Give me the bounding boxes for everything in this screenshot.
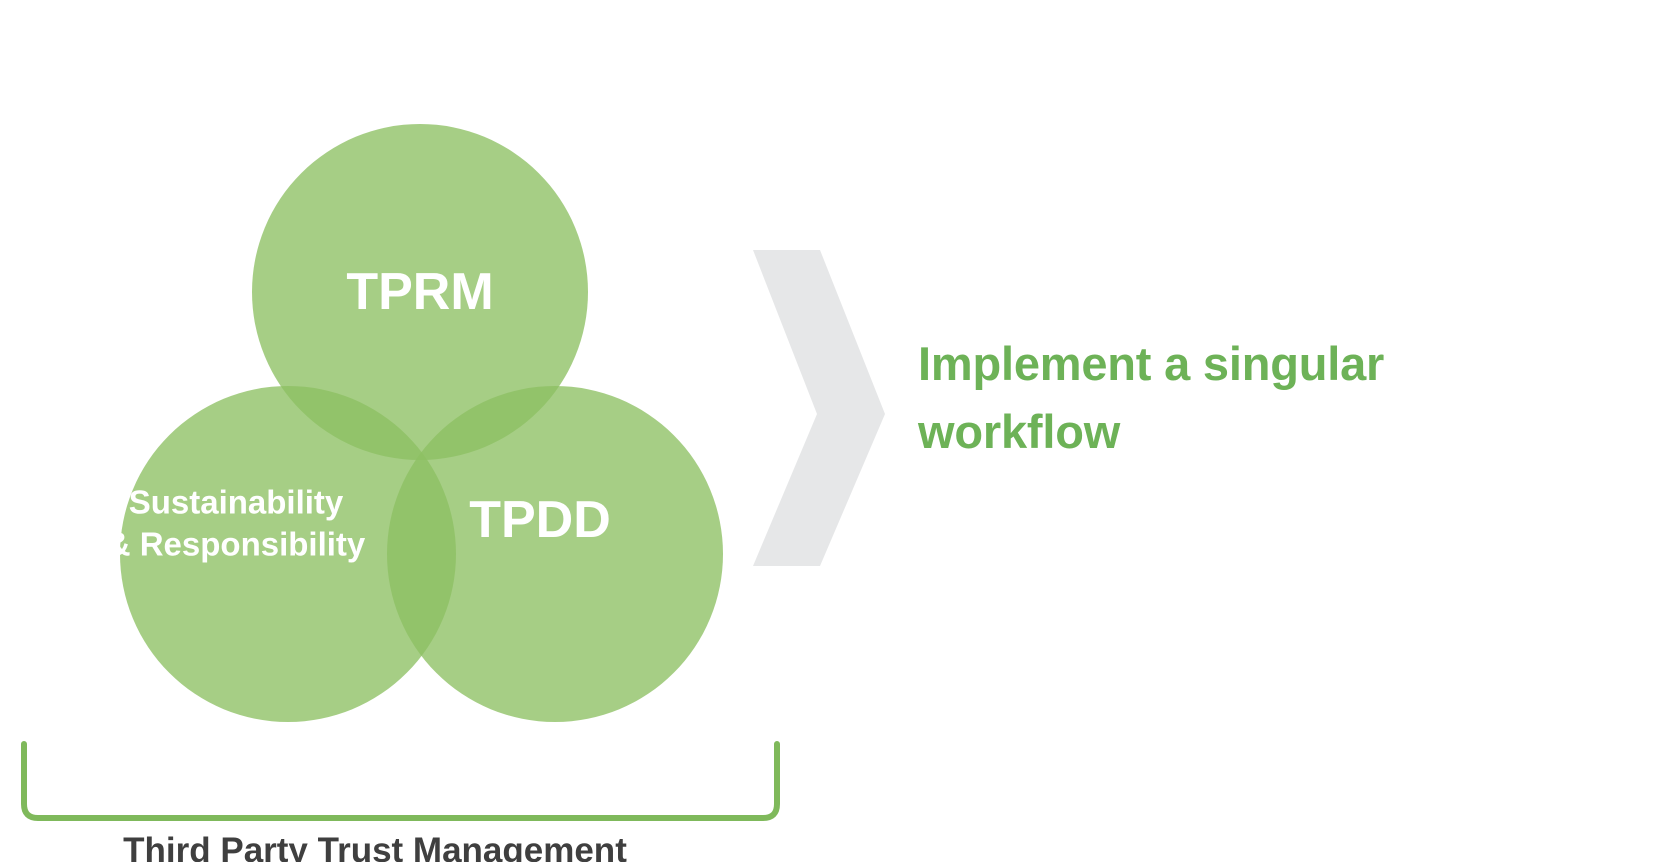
venn-label-sustainability-line2: & Responsibility [107,526,366,563]
venn-label-tprm: TPRM [346,263,493,321]
bracket-caption: Third Party Trust Management [123,831,627,862]
venn-label-sustainability-line1: Sustainability [129,484,344,521]
chevron-right-icon [753,250,885,566]
venn-circle-tpdd[interactable] [387,386,723,722]
venn-circle-group [120,124,723,722]
callout-line-2: workflow [918,398,1538,466]
callout-line-1: Implement a singular [918,330,1538,398]
grouping-bracket [24,744,777,818]
venn-label-tpdd: TPDD [469,491,611,549]
callout-text: Implement a singular workflow [918,330,1538,466]
diagram-canvas: TPRM Sustainability & Responsibility TPD… [0,0,1672,862]
